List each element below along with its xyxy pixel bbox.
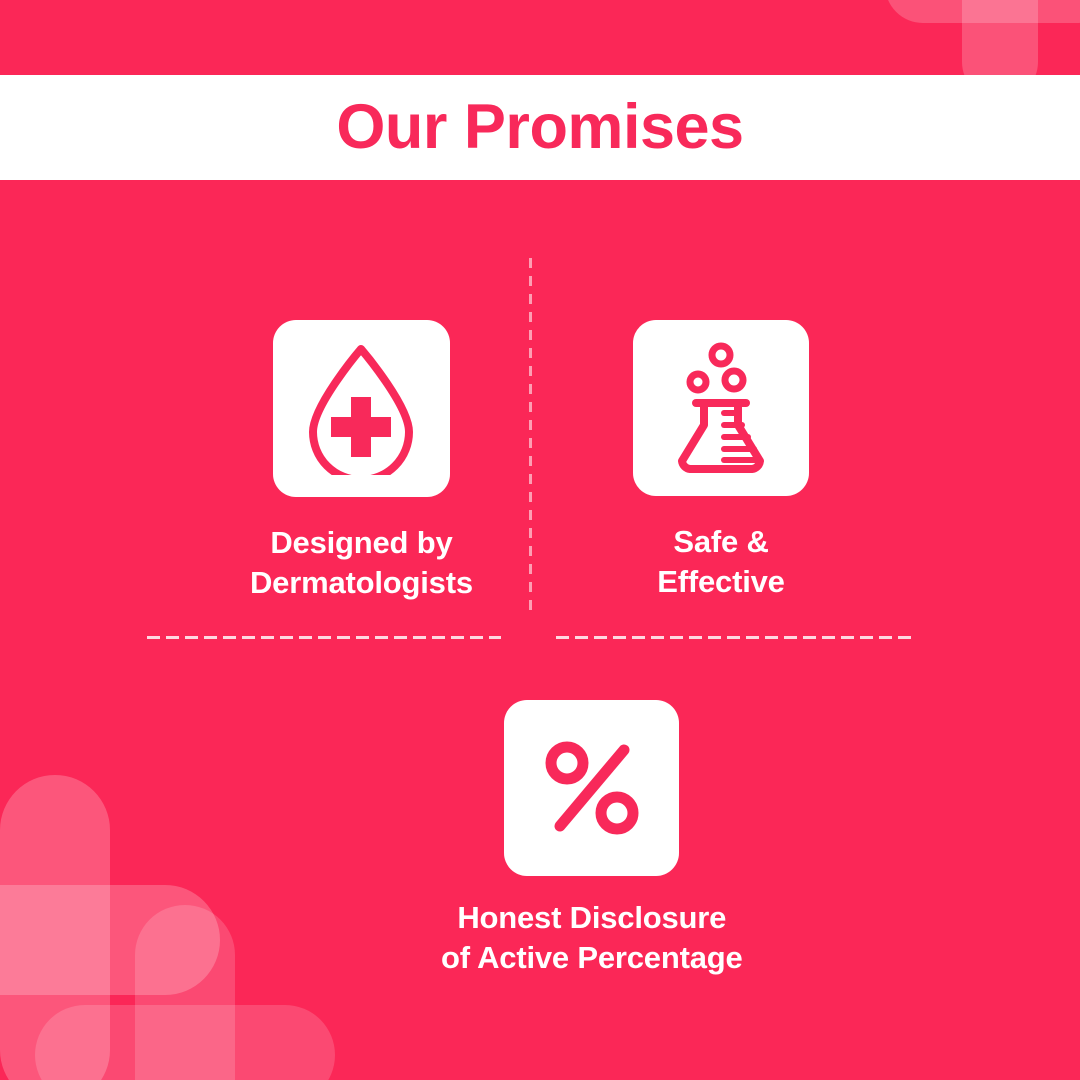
cross-vertical-bar xyxy=(135,905,235,1080)
cross-horizontal-bar xyxy=(885,0,1080,23)
cross-vertical-bar xyxy=(0,775,110,1080)
promise-item-designed-by-dermatologists: Designed by Dermatologists xyxy=(250,320,473,602)
promise-item-safe-and-effective: Safe & Effective xyxy=(633,320,809,601)
icon-card-blood-drop xyxy=(273,320,450,497)
promise-item-honest-disclosure: Honest Disclosure of Active Percentage xyxy=(441,700,743,977)
divider-horizontal-left-dashed xyxy=(147,636,501,639)
cross-horizontal-bar xyxy=(35,1005,335,1080)
title-banner: Our Promises xyxy=(0,75,1080,180)
promises-banner: Our Promises Designed by Dermatologists xyxy=(0,0,1080,1080)
lab-flask-icon xyxy=(662,341,780,475)
percent-icon xyxy=(542,738,642,838)
divider-vertical-dashed xyxy=(529,258,532,612)
icon-card-lab-flask xyxy=(633,320,809,496)
promise-label: Designed by Dermatologists xyxy=(250,523,473,602)
promise-label: Honest Disclosure of Active Percentage xyxy=(441,898,743,977)
blood-drop-medical-cross-icon xyxy=(303,343,419,475)
decorative-cross-bottom-left-front xyxy=(35,905,335,1080)
icon-card-percent xyxy=(504,700,679,876)
divider-horizontal-right-dashed xyxy=(556,636,913,639)
decorative-cross-bottom-left-back xyxy=(0,775,220,1080)
promise-label: Safe & Effective xyxy=(657,522,784,601)
page-title: Our Promises xyxy=(336,96,743,159)
cross-horizontal-bar xyxy=(0,885,220,995)
